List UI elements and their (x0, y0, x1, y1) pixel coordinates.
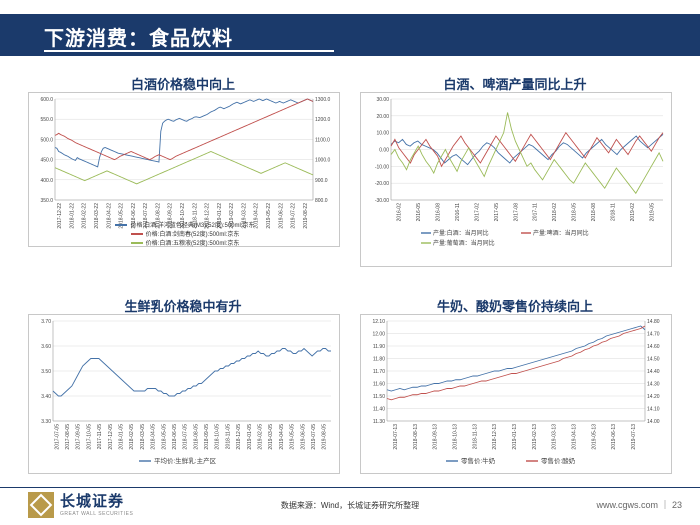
svg-text:11.90: 11.90 (373, 344, 385, 350)
svg-text:2018-02: 2018-02 (552, 203, 558, 222)
chart-4-title: 牛奶、酸奶零售价持续向上 (360, 296, 670, 315)
svg-text:2017-11-05: 2017-11-05 (97, 424, 103, 449)
footer-divider (0, 487, 700, 488)
svg-text:2018-03-05: 2018-03-05 (140, 424, 146, 450)
svg-text:2019-01-13: 2019-01-13 (512, 424, 518, 450)
svg-text:3.50: 3.50 (41, 369, 51, 375)
svg-text:1100.0: 1100.0 (315, 137, 330, 143)
svg-text:2019-01-05: 2019-01-05 (247, 424, 253, 450)
svg-text:2018-12-05: 2018-12-05 (236, 424, 242, 450)
svg-text:产量:葡萄酒：当月同比: 产量:葡萄酒：当月同比 (433, 239, 495, 247)
svg-text:12.10: 12.10 (372, 319, 385, 325)
svg-text:2016-11: 2016-11 (455, 203, 461, 221)
svg-text:2018-09-13: 2018-09-13 (433, 424, 439, 450)
svg-text:2019-08-05: 2019-08-05 (322, 424, 328, 450)
svg-text:3.60: 3.60 (41, 344, 51, 350)
svg-text:14.00: 14.00 (647, 419, 660, 425)
svg-text:350.0: 350.0 (40, 198, 53, 204)
svg-text:450.0: 450.0 (40, 158, 53, 164)
svg-text:2019-03-05: 2019-03-05 (268, 424, 274, 450)
legend-item: 价格:白酒:洋河蓝色经典(M3)(52度):500ml:京东 (115, 222, 254, 231)
svg-text:2018-02-05: 2018-02-05 (129, 424, 135, 450)
svg-text:2017-07-05: 2017-07-05 (54, 424, 60, 450)
svg-text:2018-08: 2018-08 (591, 203, 597, 222)
chart-1-title: 白酒价格稳中向上 (28, 74, 338, 93)
svg-text:2019-02: 2019-02 (630, 203, 636, 222)
svg-text:550.0: 550.0 (40, 117, 53, 123)
svg-text:2016-08: 2016-08 (436, 203, 442, 222)
svg-text:2018-11-05: 2018-11-05 (225, 424, 231, 449)
svg-text:3.30: 3.30 (41, 419, 51, 425)
svg-text:14.60: 14.60 (647, 344, 660, 350)
chart-3-panel: 3.703.603.503.403.302017-07-052017-08-05… (28, 314, 340, 474)
chart-4-title-wrap: 牛奶、酸奶零售价持续向上 (360, 296, 670, 315)
chart-1-title-wrap: 白酒价格稳中向上 (28, 74, 338, 93)
svg-text:2017-10-05: 2017-10-05 (86, 424, 92, 450)
svg-text:14.20: 14.20 (647, 394, 660, 400)
svg-text:2018-01-05: 2018-01-05 (119, 424, 125, 450)
svg-text:平均价:生鲜乳:主产区: 平均价:生鲜乳:主产区 (154, 456, 217, 465)
svg-text:2016-05: 2016-05 (416, 203, 422, 222)
svg-text:11.70: 11.70 (373, 369, 385, 375)
legend-item: 价格:白酒:五粮液(52度):500ml:京东 (131, 240, 240, 249)
svg-text:0.00: 0.00 (379, 148, 389, 154)
svg-text:2018-11: 2018-11 (610, 203, 616, 221)
svg-text:2018-04-05: 2018-04-05 (151, 424, 157, 450)
svg-text:11.60: 11.60 (373, 382, 385, 388)
svg-text:2019-05-05: 2019-05-05 (290, 424, 296, 450)
svg-text:14.50: 14.50 (647, 357, 660, 363)
svg-text:2018-10-13: 2018-10-13 (452, 424, 458, 450)
chart-3-title-wrap: 生鲜乳价格稳中有升 (28, 296, 338, 315)
slide-page: 下游消费：食品饮料 白酒价格稳中向上 600.0550.0500.0450.04… (0, 0, 700, 525)
svg-text:20.00: 20.00 (376, 114, 389, 120)
legend-item: 价格:白酒:剑南春(52度):500ml:京东 (131, 231, 240, 240)
svg-text:500.0: 500.0 (40, 137, 53, 143)
logo-name-en: GREAT WALL SECURITIES (60, 511, 133, 517)
svg-text:800.0: 800.0 (315, 198, 328, 204)
svg-text:600.0: 600.0 (40, 97, 53, 103)
chart-4-plot: 12.1012.0011.9011.8011.7011.6011.5011.40… (361, 315, 671, 473)
svg-text:2019-02-05: 2019-02-05 (258, 424, 264, 450)
chart-4-panel: 12.1012.0011.9011.8011.7011.6011.5011.40… (360, 314, 672, 474)
svg-text:2019-06-05: 2019-06-05 (300, 424, 306, 450)
svg-text:2018-05-05: 2018-05-05 (161, 424, 167, 450)
svg-text:2018-06-05: 2018-06-05 (172, 424, 178, 450)
svg-text:2018-11-13: 2018-11-13 (472, 424, 478, 449)
svg-text:3.70: 3.70 (41, 319, 51, 325)
svg-text:11.40: 11.40 (373, 407, 385, 413)
svg-text:2019-06-13: 2019-06-13 (611, 424, 617, 450)
chart-2-plot: 30.0020.0010.000.00-10.00-20.00-30.00201… (361, 93, 671, 266)
svg-text:2019-02-13: 2019-02-13 (532, 424, 538, 450)
svg-text:产量:啤酒：当月同比: 产量:啤酒：当月同比 (533, 229, 589, 237)
svg-text:2018-09-05: 2018-09-05 (204, 424, 210, 450)
svg-text:2016-02: 2016-02 (397, 203, 403, 222)
chart-2-title-wrap: 白酒、啤酒产量同比上升 (360, 74, 670, 93)
svg-text:1000.0: 1000.0 (315, 158, 331, 164)
svg-text:2019-07-05: 2019-07-05 (311, 424, 317, 450)
svg-text:30.00: 30.00 (376, 97, 389, 103)
svg-text:11.50: 11.50 (373, 394, 385, 400)
svg-text:12.00: 12.00 (372, 332, 385, 338)
svg-text:14.30: 14.30 (647, 382, 660, 388)
svg-text:2019-07-13: 2019-07-13 (631, 424, 637, 450)
svg-text:2017-08-05: 2017-08-05 (65, 424, 71, 450)
svg-text:2017-12-05: 2017-12-05 (108, 424, 114, 450)
svg-text:零售价:牛奶: 零售价:牛奶 (461, 456, 496, 465)
svg-text:10.00: 10.00 (376, 131, 389, 137)
svg-text:400.0: 400.0 (40, 178, 53, 184)
svg-text:11.80: 11.80 (373, 357, 385, 363)
svg-text:14.40: 14.40 (647, 369, 660, 375)
svg-text:2017-08: 2017-08 (513, 203, 519, 222)
chart-2-title: 白酒、啤酒产量同比上升 (360, 74, 670, 93)
svg-text:2017-11: 2017-11 (533, 203, 539, 221)
svg-text:14.10: 14.10 (647, 407, 660, 413)
svg-text:1300.0: 1300.0 (315, 97, 331, 103)
svg-text:2019-05: 2019-05 (649, 203, 655, 222)
svg-text:2018-07-05: 2018-07-05 (183, 424, 189, 450)
svg-text:2018-10-05: 2018-10-05 (215, 424, 221, 450)
chart-1-legend: 价格:白酒:洋河蓝色经典(M3)(52度):500ml:京东 价格:白酒:剑南春… (40, 222, 330, 249)
svg-text:零售价:酸奶: 零售价:酸奶 (541, 456, 576, 465)
svg-text:2018-05: 2018-05 (572, 203, 578, 222)
svg-text:14.70: 14.70 (647, 332, 660, 338)
title-underline (44, 50, 334, 52)
footer-site: www.cgws.com ｜ 23 (596, 498, 682, 511)
chart-2-panel: 30.0020.0010.000.00-10.00-20.00-30.00201… (360, 92, 672, 267)
svg-text:1200.0: 1200.0 (315, 117, 331, 123)
chart-3-plot: 3.703.603.503.403.302017-07-052017-08-05… (29, 315, 339, 473)
svg-text:2017-02: 2017-02 (474, 203, 480, 222)
source-note: 数据来源：Wind，长城证券研究所整理 (0, 500, 700, 511)
svg-text:产量:白酒：当月同比: 产量:白酒：当月同比 (433, 229, 489, 237)
svg-text:3.40: 3.40 (41, 394, 51, 400)
svg-text:14.80: 14.80 (647, 319, 660, 325)
svg-text:2019-03-13: 2019-03-13 (552, 424, 558, 450)
svg-text:2019-04-05: 2019-04-05 (279, 424, 285, 450)
svg-text:2018-07-13: 2018-07-13 (393, 424, 399, 450)
svg-text:2017-05: 2017-05 (494, 203, 500, 222)
svg-text:2019-05-13: 2019-05-13 (591, 424, 597, 450)
svg-text:-20.00: -20.00 (375, 181, 389, 187)
svg-text:-30.00: -30.00 (375, 198, 389, 204)
chart-3-title: 生鲜乳价格稳中有升 (28, 296, 338, 315)
svg-text:2018-12-13: 2018-12-13 (492, 424, 498, 450)
svg-text:2017-09-05: 2017-09-05 (76, 424, 82, 450)
svg-text:2018-08-13: 2018-08-13 (413, 424, 419, 450)
svg-text:900.0: 900.0 (315, 178, 328, 184)
svg-text:2019-04-13: 2019-04-13 (572, 424, 578, 450)
page-title: 下游消费：食品饮料 (44, 22, 233, 51)
svg-text:2018-08-05: 2018-08-05 (193, 424, 199, 450)
svg-text:-10.00: -10.00 (375, 164, 389, 170)
svg-text:11.30: 11.30 (373, 419, 385, 425)
